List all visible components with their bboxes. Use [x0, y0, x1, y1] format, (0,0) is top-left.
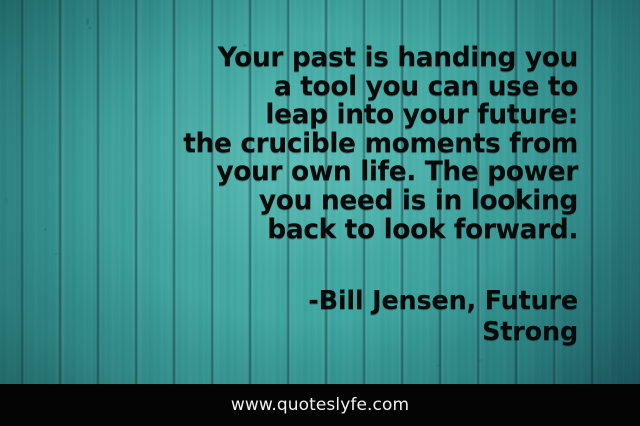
quote-text: Your past is handing you a tool you can … [58, 44, 578, 244]
quote-content: Your past is handing you a tool you can … [0, 0, 640, 384]
quote-attribution: -Bill Jensen, Future Strong [58, 286, 578, 348]
quote-card: Your past is handing you a tool you can … [0, 0, 640, 426]
site-watermark: www.quoteslyfe.com [231, 395, 409, 415]
footer-bar: www.quoteslyfe.com [0, 384, 640, 426]
